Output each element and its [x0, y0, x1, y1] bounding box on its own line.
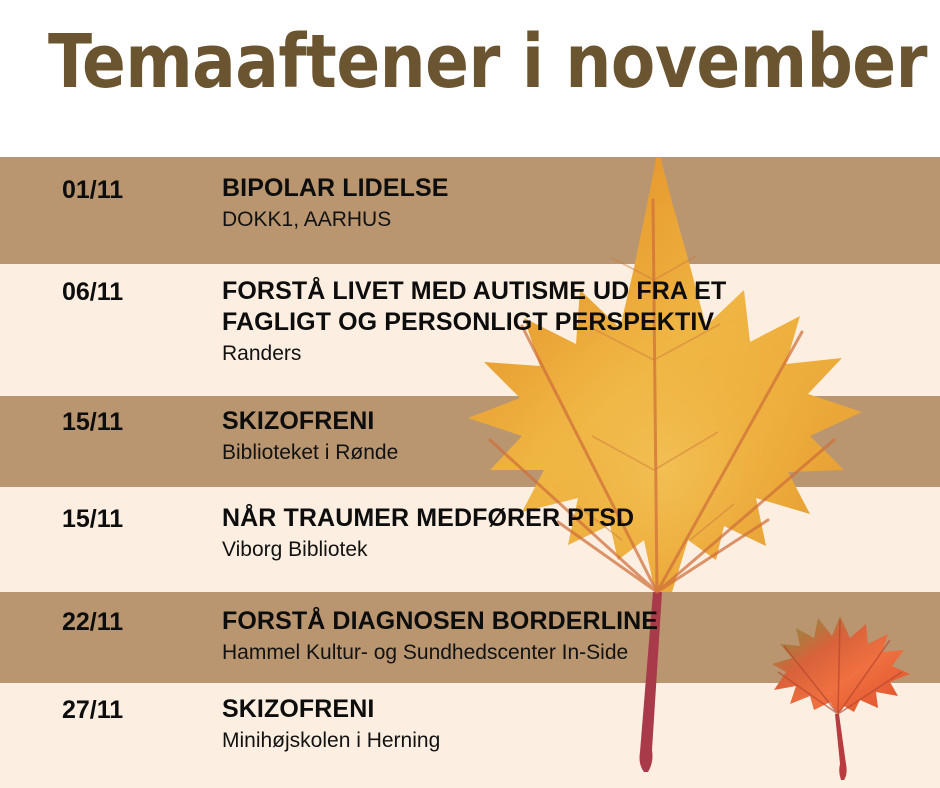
event-details: NÅR TRAUMER MEDFØRER PTSDViborg Bibliote…: [222, 503, 928, 563]
event-title: SKIZOFRENI: [222, 406, 928, 437]
event-venue: Randers: [222, 340, 928, 367]
event-row[interactable]: 27/11SKIZOFRENIMinihøjskolen i Herning: [0, 683, 940, 788]
event-details: BIPOLAR LIDELSEDOKK1, AARHUS: [222, 173, 928, 233]
event-row[interactable]: 06/11FORSTÅ LIVET MED AUTISME UD FRA ET …: [0, 264, 940, 396]
event-details: FORSTÅ DIAGNOSEN BORDERLINEHammel Kultur…: [222, 606, 928, 666]
event-date: 01/11: [62, 176, 123, 205]
event-date: 22/11: [62, 608, 123, 637]
event-venue: DOKK1, AARHUS: [222, 206, 928, 233]
event-date: 06/11: [62, 278, 123, 307]
event-venue: Hammel Kultur- og Sundhedscenter In-Side: [222, 639, 928, 666]
event-venue: Viborg Bibliotek: [222, 536, 928, 563]
event-title: FORSTÅ LIVET MED AUTISME UD FRA ET FAGLI…: [222, 276, 928, 338]
event-row[interactable]: 15/11NÅR TRAUMER MEDFØRER PTSDViborg Bib…: [0, 487, 940, 592]
event-venue: Minihøjskolen i Herning: [222, 727, 928, 754]
poster-canvas: Temaaftener i november 01/11BIPOLAR LIDE…: [0, 0, 940, 788]
event-title: FORSTÅ DIAGNOSEN BORDERLINE: [222, 606, 928, 637]
page-title: Temaaftener i november: [48, 24, 927, 102]
event-row[interactable]: 15/11SKIZOFRENIBiblioteket i Rønde: [0, 396, 940, 487]
event-details: SKIZOFRENIBiblioteket i Rønde: [222, 406, 928, 466]
event-details: SKIZOFRENIMinihøjskolen i Herning: [222, 694, 928, 754]
event-date: 15/11: [62, 408, 123, 437]
event-date: 27/11: [62, 696, 123, 725]
event-title: SKIZOFRENI: [222, 694, 928, 725]
title-area: Temaaftener i november: [0, 0, 940, 157]
event-row[interactable]: 22/11FORSTÅ DIAGNOSEN BORDERLINEHammel K…: [0, 592, 940, 683]
event-details: FORSTÅ LIVET MED AUTISME UD FRA ET FAGLI…: [222, 276, 928, 367]
event-row[interactable]: 01/11BIPOLAR LIDELSEDOKK1, AARHUS: [0, 157, 940, 264]
event-title: NÅR TRAUMER MEDFØRER PTSD: [222, 503, 928, 534]
event-venue: Biblioteket i Rønde: [222, 439, 928, 466]
event-title: BIPOLAR LIDELSE: [222, 173, 928, 204]
event-date: 15/11: [62, 505, 123, 534]
